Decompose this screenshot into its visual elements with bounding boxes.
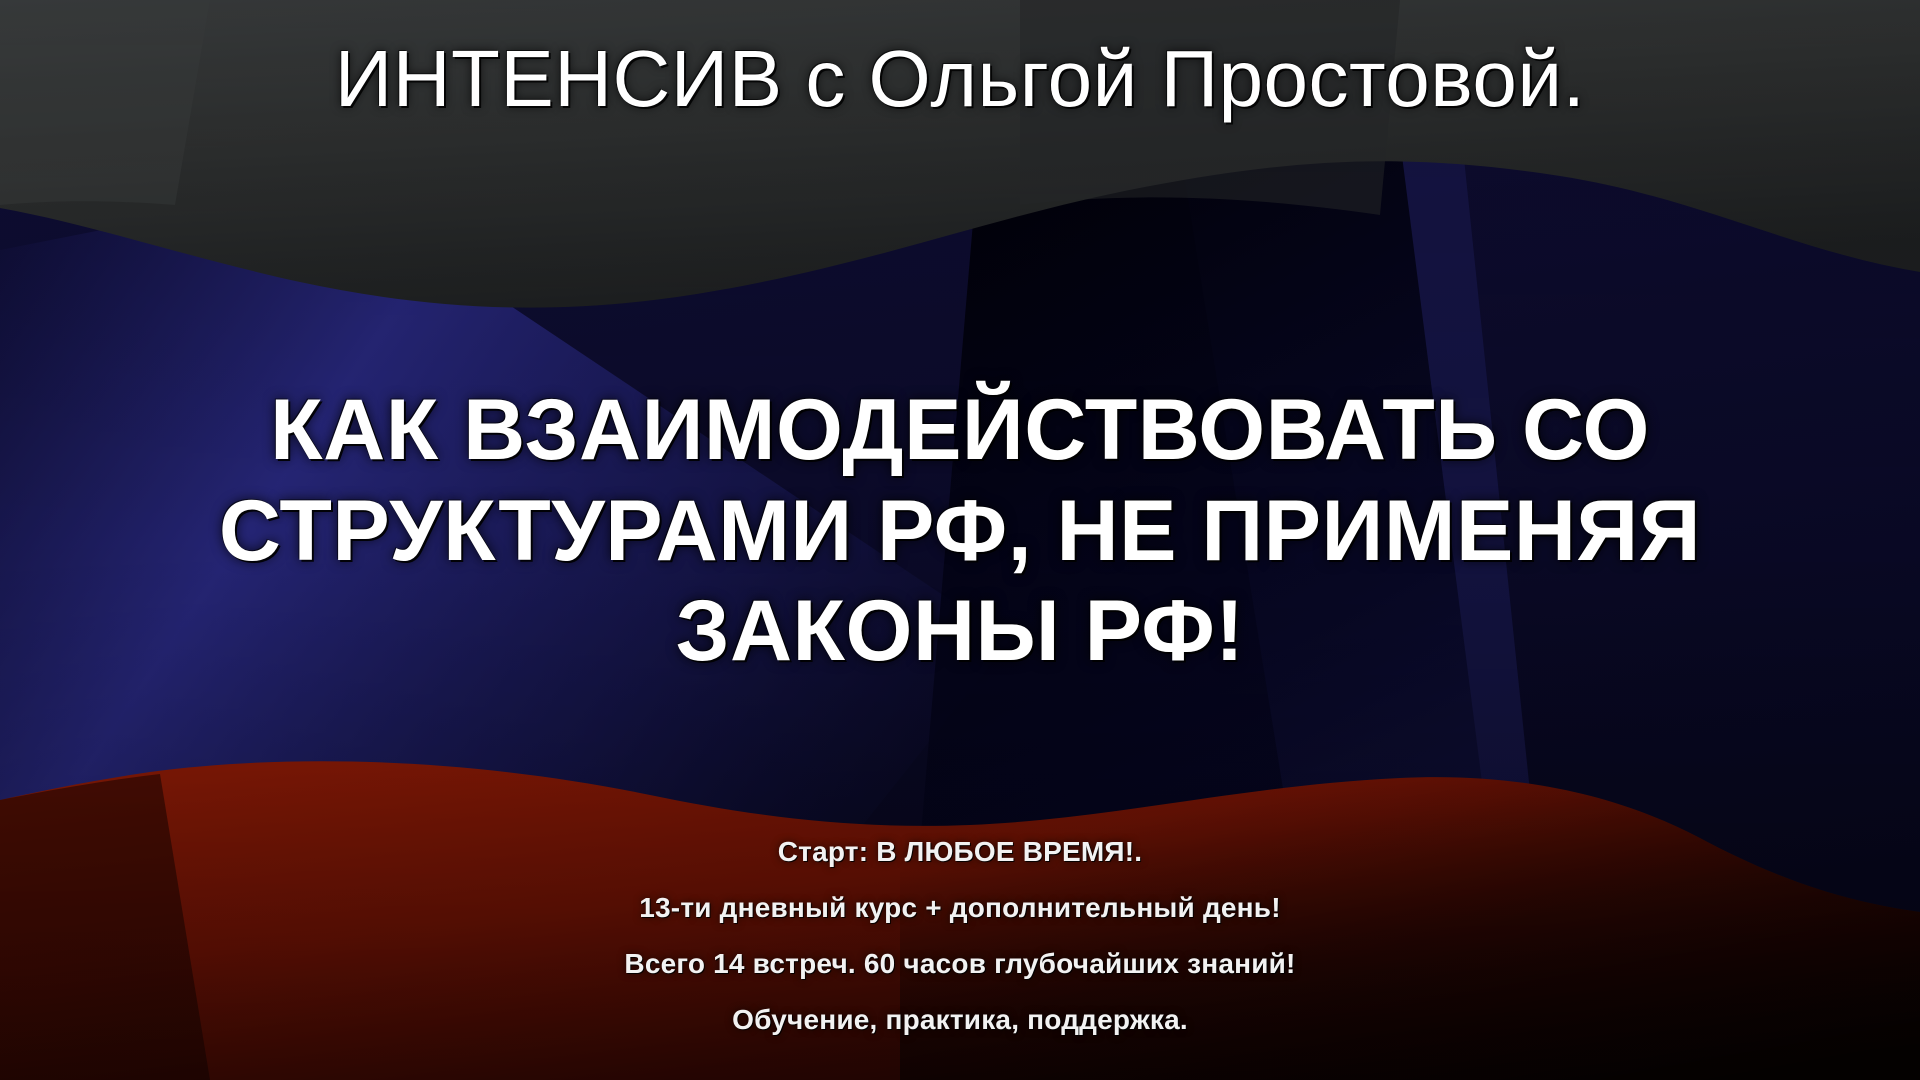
banner-content: ИНТЕНСИВ с Ольгой Простовой. КАК ВЗАИМОД… <box>0 0 1920 1080</box>
main-heading-line-2: СТРУКТУРАМИ РФ, НЕ ПРИМЕНЯЯ <box>0 481 1920 582</box>
main-heading-line-1: КАК ВЗАИМОДЕЙСТВОВАТЬ СО <box>0 380 1920 481</box>
promo-banner: ИНТЕНСИВ с Ольгой Простовой. КАК ВЗАИМОД… <box>0 0 1920 1080</box>
course-details: Старт: В ЛЮБОЕ ВРЕМЯ!. 13-ти дневный кур… <box>0 838 1920 1034</box>
main-heading: КАК ВЗАИМОДЕЙСТВОВАТЬ СО СТРУКТУРАМИ РФ,… <box>0 380 1920 682</box>
presenter-line: ИНТЕНСИВ с Ольгой Простовой. <box>0 38 1920 120</box>
detail-format: Обучение, практика, поддержка. <box>0 1006 1920 1034</box>
detail-meetings-hours: Всего 14 встреч. 60 часов глубочайших зн… <box>0 950 1920 978</box>
detail-course-length: 13-ти дневный курс + дополнительный день… <box>0 894 1920 922</box>
detail-start-date: Старт: В ЛЮБОЕ ВРЕМЯ!. <box>0 838 1920 866</box>
main-heading-line-3: ЗАКОНЫ РФ! <box>0 581 1920 682</box>
